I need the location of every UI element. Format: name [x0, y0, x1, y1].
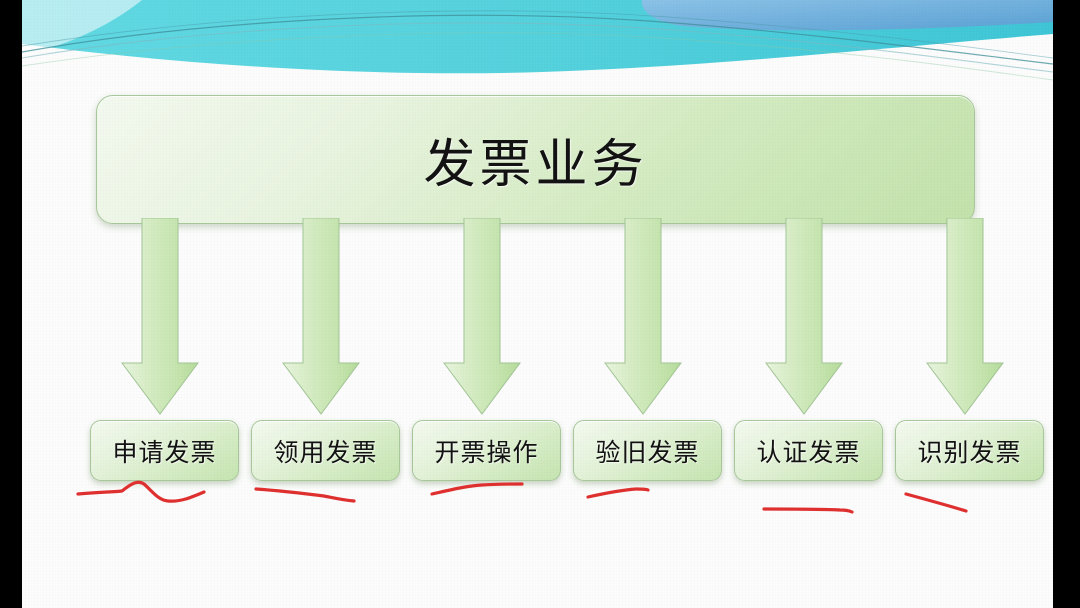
- presentation-slide: 发票业务 申请发票: [22, 0, 1053, 608]
- connector-arrows: [22, 218, 1053, 418]
- leaf-label: 领用发票: [273, 433, 377, 469]
- arrow-down-1: [122, 218, 198, 414]
- arrow-down-4: [605, 218, 681, 414]
- leaf-label: 认证发票: [756, 433, 860, 469]
- leaf-node-collect-invoice[interactable]: 领用发票: [251, 420, 400, 481]
- root-node-box[interactable]: 发票业务: [96, 95, 975, 224]
- arrow-down-3: [444, 218, 520, 414]
- leaf-label: 申请发票: [112, 433, 216, 469]
- ink-mark-4: [588, 489, 648, 497]
- leaf-node-recognize-invoice[interactable]: 识别发票: [895, 420, 1044, 481]
- leaf-label: 识别发票: [917, 433, 1021, 469]
- page-title: 发票业务: [423, 122, 647, 197]
- leaf-label: 开票操作: [434, 433, 538, 469]
- arrow-down-5: [766, 218, 842, 414]
- leaf-label: 验旧发票: [595, 433, 699, 469]
- ink-mark-5: [764, 509, 852, 512]
- leaf-node-row: 申请发票 领用发票 开票操作 验旧发票 认证发票 识别发票: [22, 420, 1053, 482]
- ink-mark-3: [432, 484, 522, 494]
- arrow-down-2: [283, 218, 359, 414]
- arrow-down-6: [927, 218, 1003, 414]
- ink-mark-2: [256, 489, 354, 501]
- ink-mark-1: [78, 482, 204, 501]
- slide-viewer: 发票业务 申请发票: [0, 0, 1080, 608]
- leaf-node-apply-invoice[interactable]: 申请发票: [90, 420, 239, 481]
- leaf-node-issue-operation[interactable]: 开票操作: [412, 420, 561, 481]
- ink-mark-6: [906, 494, 966, 511]
- leaf-node-certify-invoice[interactable]: 认证发票: [734, 420, 883, 481]
- leaf-node-verify-old-invoice[interactable]: 验旧发票: [573, 420, 722, 481]
